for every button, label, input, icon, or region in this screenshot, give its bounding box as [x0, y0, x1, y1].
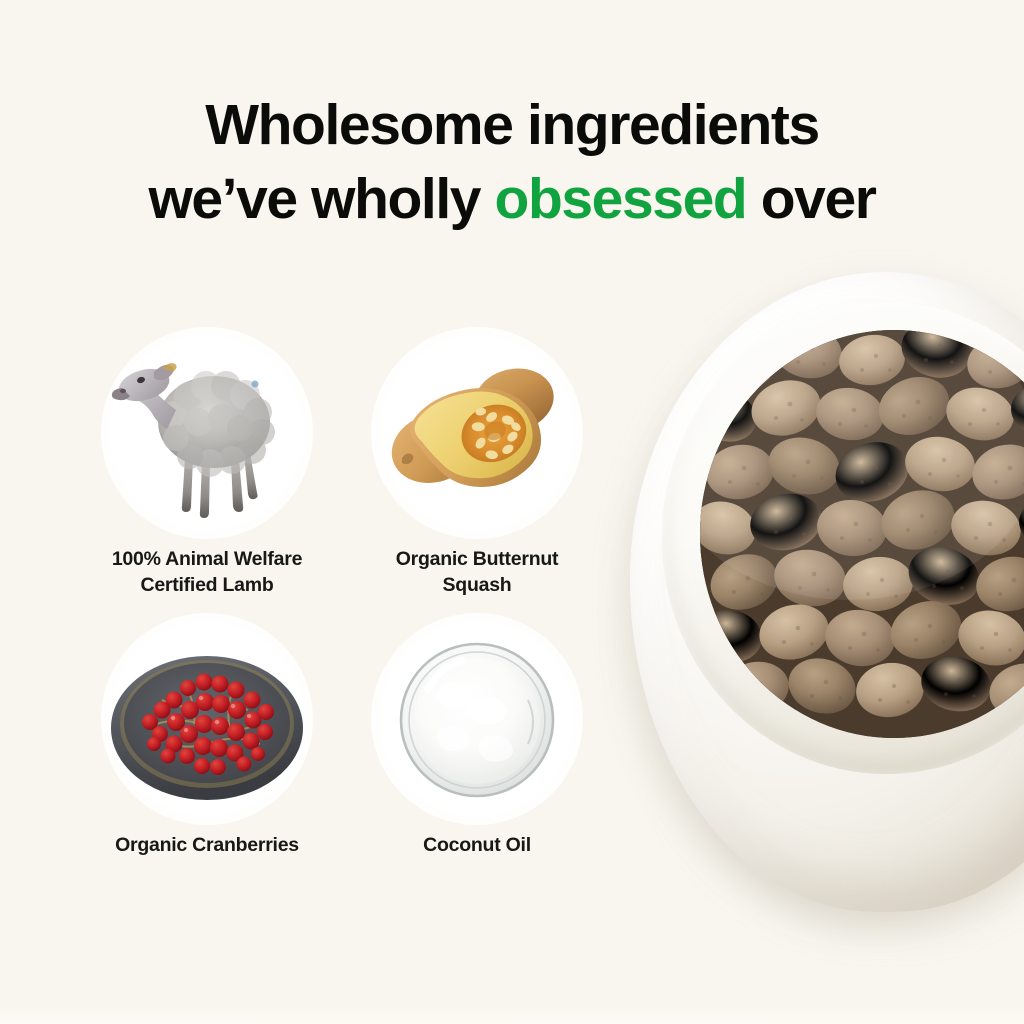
ingredient-image-wrap-butternut-squash [362, 318, 592, 548]
ingredient-label-cranberries-line1: Organic Cranberries [115, 834, 299, 856]
ingredient-label-lamb: 100% Animal Welfare Certified Lamb [72, 546, 342, 598]
ingredient-label-lamb-line2: Certified Lamb [140, 574, 273, 596]
coconut-oil-photo [362, 604, 592, 834]
marketing-image-canvas: Wholesome ingredients we’ve wholly obses… [0, 0, 1024, 1024]
ingredient-card-cranberries: Organic Cranberries [72, 604, 342, 890]
ingredient-label-butternut-squash-line1: Organic Butternut [396, 548, 559, 570]
page-headline: Wholesome ingredients we’ve wholly obses… [0, 88, 1024, 236]
ingredient-image-wrap-lamb [92, 318, 322, 548]
headline-line-2-after: over [746, 167, 875, 231]
headline-line-2: we’ve wholly obsessed over [0, 162, 1024, 236]
cranberries-photo [92, 604, 322, 834]
sheep-photo [92, 318, 322, 548]
ingredient-label-butternut-squash-line2: Squash [443, 574, 512, 596]
product-bowl [600, 262, 1024, 962]
ingredient-card-lamb: 100% Animal Welfare Certified Lamb [72, 318, 342, 604]
sheep-nostril [120, 389, 126, 393]
headline-line-2-before: we’ve wholly [148, 167, 494, 231]
ingredient-image-wrap-cranberries [92, 604, 322, 834]
ingredient-label-cranberries: Organic Cranberries [72, 832, 342, 858]
ingredient-image-wrap-coconut-oil [362, 604, 592, 834]
ingredient-label-lamb-line1: 100% Animal Welfare [112, 548, 302, 570]
headline-line-1: Wholesome ingredients [0, 88, 1024, 162]
ingredient-label-coconut-oil: Coconut Oil [342, 832, 612, 858]
sheep-fleece-texture [161, 371, 275, 477]
ingredient-label-butternut-squash: Organic Butternut Squash [342, 546, 612, 598]
ingredient-card-coconut-oil: Coconut Oil [342, 604, 612, 890]
butternut-squash-photo [362, 318, 592, 548]
ingredient-grid: 100% Animal Welfare Certified Lamb [72, 318, 612, 918]
ingredient-label-coconut-oil-line1: Coconut Oil [423, 834, 531, 856]
headline-accent-word: obsessed [495, 167, 747, 231]
bottom-edge-fade [0, 1006, 1024, 1024]
sheep-back-mark [252, 381, 259, 388]
ingredient-card-butternut-squash: Organic Butternut Squash [342, 318, 612, 604]
